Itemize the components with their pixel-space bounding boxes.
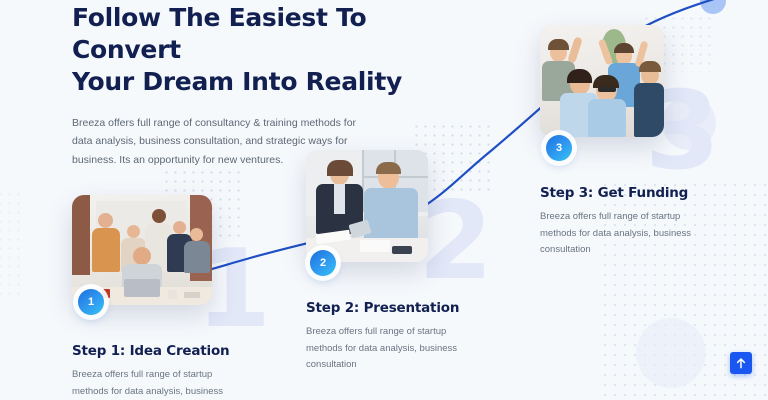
step-3-number-badge: 3 [546, 135, 572, 161]
page-title-line-2: Your Dream Into Reality [72, 67, 402, 96]
page-title: Follow The Easiest To Convert Your Dream… [72, 2, 472, 98]
blue-circle-decoration [700, 0, 726, 14]
headline-block: Follow The Easiest To Convert Your Dream… [72, 2, 472, 169]
step-1-description: Breeza offers full range of startup meth… [72, 367, 224, 400]
step-2-photo[interactable] [306, 150, 428, 262]
step-1-title: Step 1: Idea Creation [72, 343, 229, 359]
step-3-description: Breeza offers full range of startup meth… [540, 209, 692, 259]
pale-blob-decoration-bottom-right [636, 318, 706, 388]
step-3-title: Step 3: Get Funding [540, 185, 692, 201]
step-1-number-badge: 1 [78, 289, 104, 315]
step-3-photo[interactable] [540, 25, 664, 137]
step-2-number-badge: 2 [310, 250, 336, 276]
step-2-title: Step 2: Presentation [306, 300, 459, 316]
step-card-2: 2 Step 2: Presentation Breeza offers ful… [306, 150, 459, 374]
scroll-to-top-button[interactable] [730, 352, 752, 374]
dot-grid-decoration-far-left [0, 190, 22, 300]
step-card-3: 3 Step 3: Get Funding Breeza offers full… [540, 25, 692, 259]
page-title-line-1: Follow The Easiest To Convert [72, 3, 366, 64]
step-2-description: Breeza offers full range of startup meth… [306, 324, 458, 374]
step-card-1: 1 Step 1: Idea Creation Breeza offers fu… [72, 195, 229, 400]
steps-section: 1 2 3 Follow The Easiest To Convert Your… [0, 0, 768, 400]
arrow-up-icon [736, 358, 746, 369]
